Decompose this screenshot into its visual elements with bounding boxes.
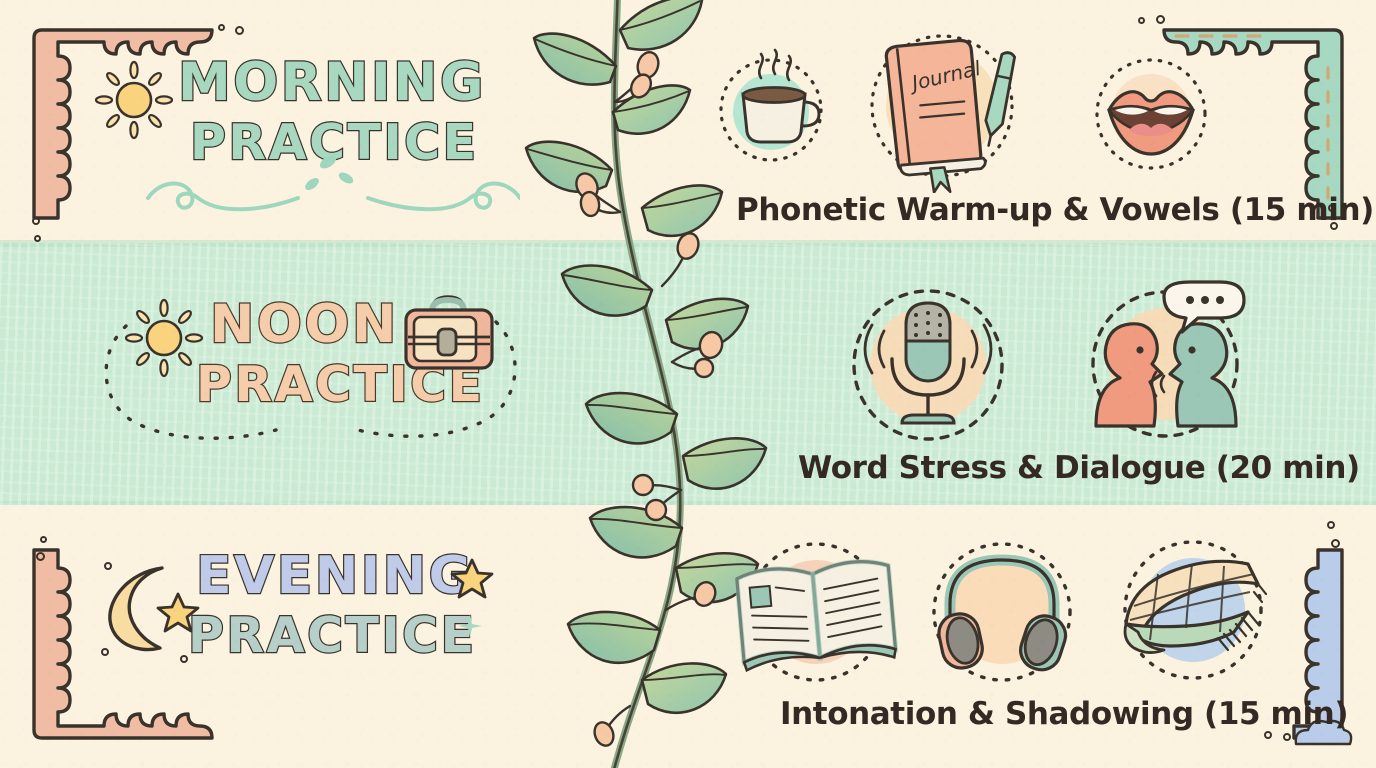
star-icon xyxy=(156,590,200,634)
evening-caption: Intonation & Shadowing (15 min) xyxy=(780,696,1348,732)
decor-dot xyxy=(1156,15,1165,24)
star-icon xyxy=(450,556,494,600)
folded-blanket-icon[interactable] xyxy=(1108,528,1278,693)
noon-caption: Word Stress & Dialogue (20 min) xyxy=(798,450,1360,486)
dotted-swoosh-decor xyxy=(100,318,520,448)
evening-title-line2: PRACTICE xyxy=(188,612,477,659)
decor-dot xyxy=(1283,733,1291,741)
headphones-icon[interactable] xyxy=(922,530,1082,695)
decor-dot xyxy=(1138,17,1145,24)
decor-dot xyxy=(32,217,40,225)
microphone-icon[interactable] xyxy=(838,275,1018,455)
decor-dot xyxy=(36,552,45,561)
decor-dot xyxy=(40,536,47,543)
morning-caption: Phonetic Warm-up & Vowels (15 min) xyxy=(736,192,1374,228)
decor-dot xyxy=(1327,521,1335,529)
decor-dot xyxy=(218,24,225,31)
sparkle-icon xyxy=(457,613,483,639)
evening-title-block: EVENING PRACTICE xyxy=(196,552,477,659)
decor-dot xyxy=(180,655,188,663)
sun-icon xyxy=(92,58,176,142)
coffee-cup-icon[interactable] xyxy=(715,40,827,170)
decor-dot xyxy=(1331,539,1340,548)
morning-title-line1: MORNING xyxy=(178,58,486,109)
decor-dot xyxy=(34,235,41,242)
open-book-icon[interactable] xyxy=(730,530,905,695)
evening-title-line1: EVENING xyxy=(196,552,477,602)
journal-notebook-icon[interactable]: Journal xyxy=(865,18,1020,193)
decor-dot xyxy=(235,26,244,35)
decor-dot xyxy=(1264,731,1272,739)
lips-mouth-icon[interactable] xyxy=(1085,48,1217,180)
two-people-speech-bubble-icon[interactable] xyxy=(1068,278,1263,453)
swirl-flourish-icon xyxy=(140,140,520,220)
poster-canvas: MORNING PRACTICE xyxy=(0,0,1376,768)
